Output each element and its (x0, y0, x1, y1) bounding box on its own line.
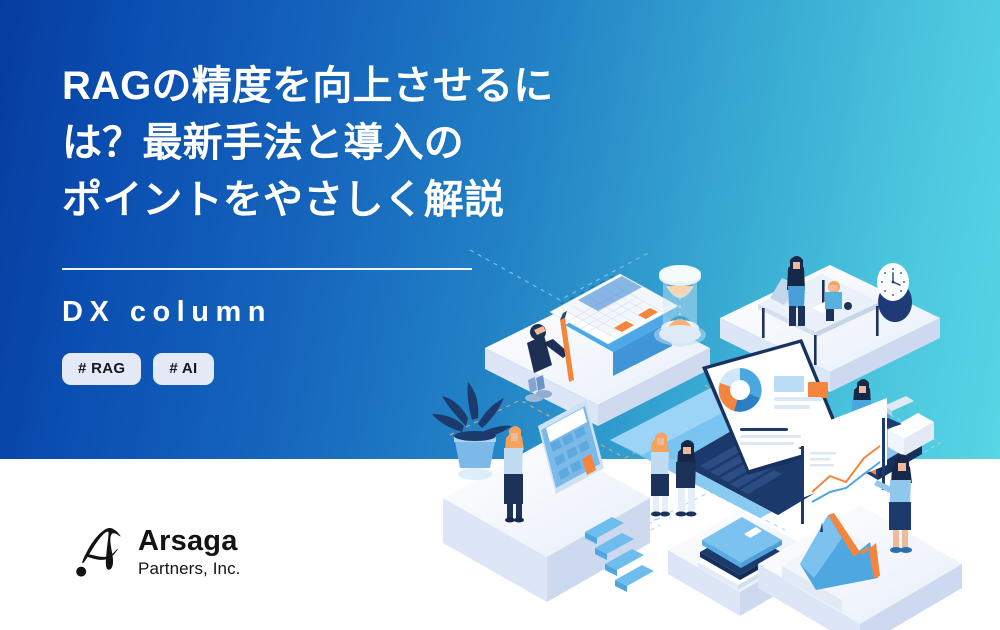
title-line-2: は？最新手法と導入の (62, 115, 662, 172)
logo-company-name: Arsaga (138, 527, 241, 556)
tag-ai[interactable]: # AI (153, 353, 213, 385)
title-line-3: ポイントをやさしく解説 (62, 172, 662, 229)
category-kicker: DX column (62, 296, 662, 329)
title-divider (62, 268, 472, 270)
tag-rag[interactable]: # RAG (62, 353, 141, 385)
page-root: RAGの精度を向上させるに は？最新手法と導入の ポイントをやさしく解説 DX … (0, 0, 1000, 630)
hero-text-column: RAGの精度を向上させるに は？最新手法と導入の ポイントをやさしく解説 DX … (62, 58, 662, 385)
logo-company-subtitle: Partners, Inc. (138, 560, 241, 577)
brand-logo[interactable]: Arsaga Partners, Inc. (74, 524, 241, 580)
title-line-1: RAGの精度を向上させるに (62, 58, 662, 115)
logo-wordmark: Arsaga Partners, Inc. (138, 527, 241, 577)
page-title: RAGの精度を向上させるに は？最新手法と導入の ポイントをやさしく解説 (62, 58, 662, 228)
arsaga-a-mark-icon (74, 524, 126, 580)
tag-list: # RAG # AI (62, 353, 662, 385)
